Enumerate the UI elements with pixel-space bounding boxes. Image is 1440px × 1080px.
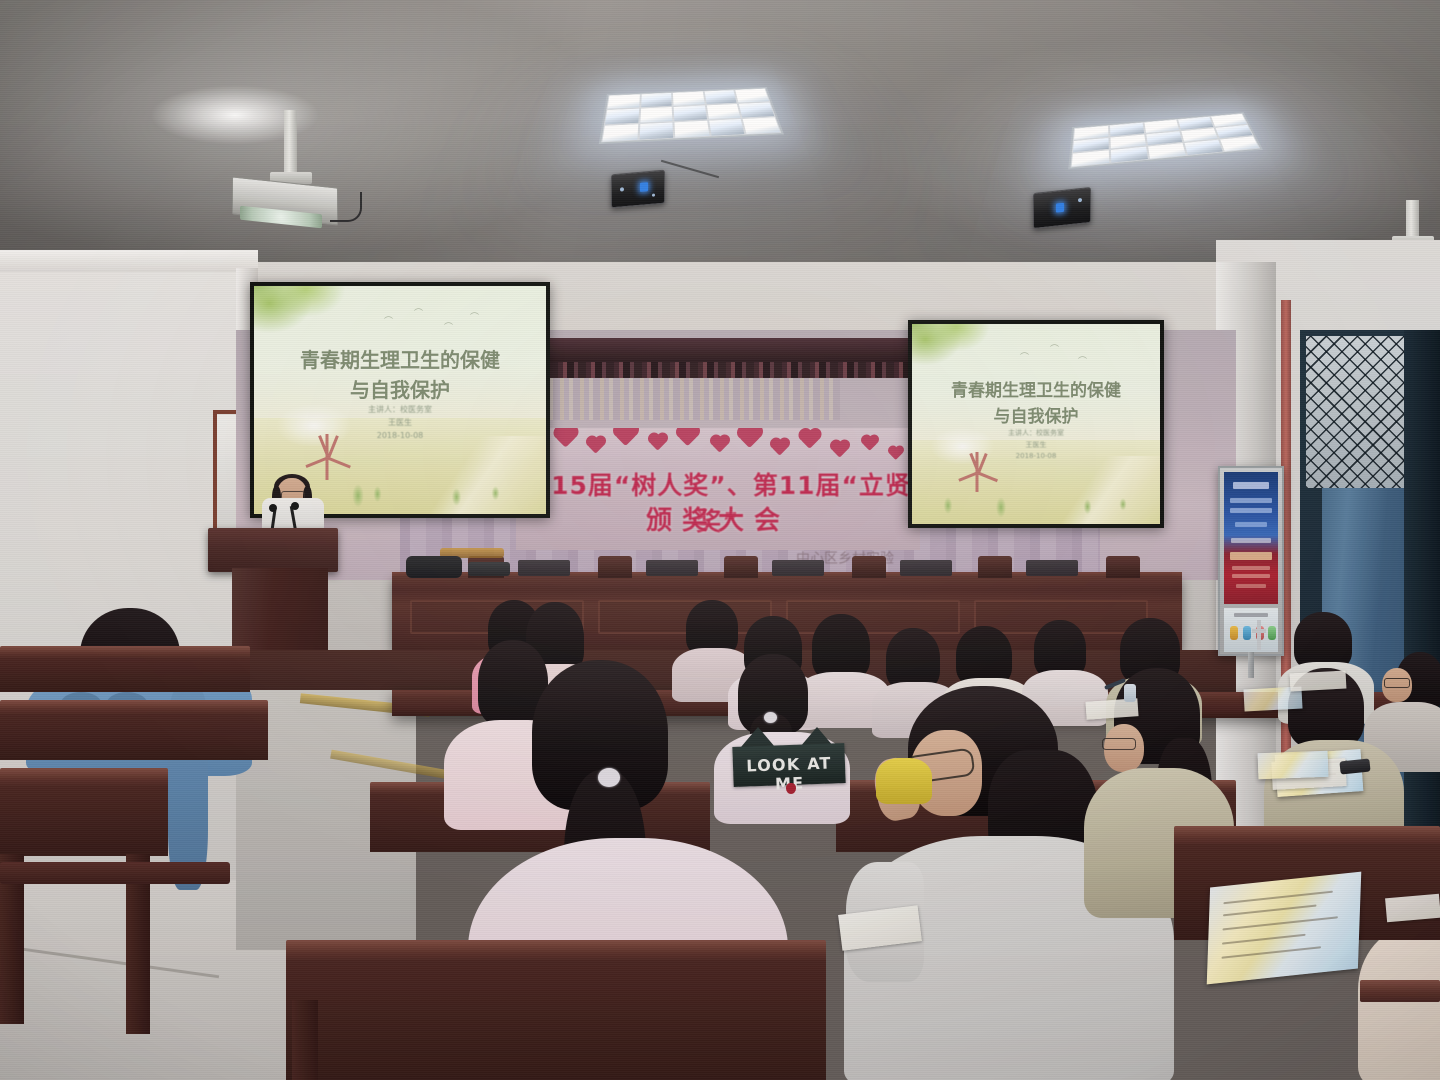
worksheet-paper-far-right[interactable] <box>1385 894 1440 923</box>
pamphlet-text-line <box>1222 934 1306 944</box>
left-wall-crown-moulding <box>0 250 258 272</box>
projector-left <box>232 110 358 220</box>
student-hair <box>956 626 1012 686</box>
standing-poster-face <box>1224 472 1278 604</box>
projector-cable <box>330 192 362 222</box>
desk-front-left-2 <box>0 714 268 760</box>
student-torso <box>1358 926 1440 1080</box>
stage-chair <box>1106 556 1140 578</box>
pamphlet-text-line <box>1223 891 1332 904</box>
stage-chair-seat <box>900 560 952 576</box>
poster-lower-text <box>1234 613 1268 617</box>
tree-icon <box>1082 499 1093 516</box>
tree-icon <box>490 486 501 502</box>
stage-equipment <box>468 562 510 576</box>
stage-chair-seat <box>518 560 570 576</box>
stage-chair-seat <box>646 560 698 576</box>
bird-icon: ︵ <box>384 308 393 321</box>
heart-decor <box>588 437 604 453</box>
pamphlet-text-line <box>1223 904 1317 915</box>
slide-foliage <box>912 324 1031 380</box>
award-ceremony-banner: 第15届“树人奖”、第11届“立贤奖” 颁奖大会 <box>516 428 920 550</box>
slide-subtitle-2: 王医生 <box>254 417 546 428</box>
tree-icon <box>994 497 1008 520</box>
heart-decor <box>739 428 760 448</box>
device-led-small-3 <box>1078 198 1082 202</box>
tree-icon <box>1118 498 1128 512</box>
speaker-device-left <box>611 170 665 209</box>
poster-support-pole <box>1248 652 1254 678</box>
ceiling-light-left <box>599 87 784 144</box>
cross-vertical <box>1257 620 1261 650</box>
stage-chair <box>724 556 758 578</box>
cross-horizontal <box>1252 629 1266 633</box>
slide-subtitle-1: 主讲人：校医务室 <box>254 404 546 415</box>
slide-subtitle-2: 王医生 <box>912 440 1160 450</box>
pamphlet-text-line <box>1222 946 1322 958</box>
student-hair <box>886 628 940 690</box>
poster-figure-icon <box>1268 626 1276 640</box>
desk-top-left-3 <box>0 768 168 788</box>
poster-figure-icon <box>1230 626 1238 640</box>
poster-headline-text <box>1233 482 1269 489</box>
podium-top <box>208 528 338 572</box>
bird-icon: ︵ <box>1050 336 1059 349</box>
banner-title-line2: 颁奖大会 <box>516 500 920 537</box>
desk-top-foreground-right-2 <box>1360 980 1440 1002</box>
slide-title-line2: 与自我保护 <box>254 374 546 403</box>
hair-scrunchie <box>764 712 777 723</box>
heart-decor <box>712 436 728 452</box>
student-glasses <box>1384 678 1410 688</box>
desk-front-left-3 <box>0 786 168 856</box>
stage-desk-panel <box>786 600 960 634</box>
photo-scene: 第15届“树人奖”、第11届“立贤奖” 颁奖大会 中心区乡村实验 ︵ ︵ ︵ ︵ <box>0 0 1440 1080</box>
heart-decor <box>863 436 878 451</box>
tree-icon <box>450 488 463 508</box>
student-yellow-sleeve <box>876 758 932 804</box>
bird-icon: ︵ <box>1020 344 1029 357</box>
right-projection-screen: ︵ ︵ ︵ 青春期生理卫生的保健 与自我保护 主讲人：校医务室 王医生 2018… <box>908 320 1164 528</box>
tree-icon <box>372 486 383 504</box>
desk-front-left-1 <box>0 658 250 692</box>
bird-icon: ︵ <box>414 300 423 313</box>
desk-leg-foreground <box>292 1000 318 1080</box>
stage-desk-panel <box>598 600 772 634</box>
heart-decor <box>650 434 666 450</box>
poster-text-line <box>1230 508 1272 513</box>
worksheet-paper-back[interactable] <box>1290 671 1347 692</box>
stage-chair-seat <box>1026 560 1078 576</box>
health-pamphlet-back[interactable] <box>1258 751 1329 779</box>
bird-icon: ︵ <box>1078 348 1087 361</box>
device-led-small <box>620 187 624 191</box>
tree-icon <box>350 484 366 510</box>
tee-graphic-peak <box>741 727 775 747</box>
desk-front-foreground <box>286 960 826 1080</box>
windmill-icon <box>312 434 342 480</box>
stage-valance-shimmer <box>540 378 840 420</box>
student-hair <box>812 614 870 680</box>
stage-valance-fringe <box>530 362 908 378</box>
stage-chair <box>852 556 886 578</box>
slide-foliage <box>254 286 394 350</box>
stage-chair <box>598 556 632 578</box>
slide-right: ︵ ︵ ︵ 青春期生理卫生的保健 与自我保护 主讲人：校医务室 王医生 2018… <box>912 324 1160 524</box>
poster-text-line <box>1235 522 1267 527</box>
speaker-device-right <box>1033 187 1091 229</box>
slide-subtitle-3: 2018-10-08 <box>254 431 546 440</box>
water-bottle-icon[interactable] <box>1124 684 1136 702</box>
student-glasses <box>1102 738 1136 750</box>
hair-scrunchie <box>598 768 620 787</box>
device-led-blue <box>640 182 648 192</box>
poster-text-line <box>1230 498 1272 503</box>
pamphlet-text-line <box>1222 916 1337 930</box>
poster-text-line <box>1232 574 1270 578</box>
bench-left <box>0 862 230 884</box>
heart-decor <box>772 439 788 455</box>
heart-decor <box>615 428 636 446</box>
device-led-blue-2 <box>1056 203 1064 213</box>
health-pamphlet-right[interactable] <box>1207 872 1362 985</box>
slide-title-line1: 青春期生理卫生的保健 <box>254 344 546 373</box>
tee-graphic-dot <box>786 783 796 794</box>
heart-decor <box>889 447 902 460</box>
stage-bag <box>406 556 462 578</box>
heart-decor <box>832 441 848 457</box>
slide-title-line2: 与自我保护 <box>912 402 1160 427</box>
slide-subtitle-1: 主讲人：校医务室 <box>912 428 1160 438</box>
poster-cross-icon <box>1252 620 1266 650</box>
heart-decor <box>678 428 698 446</box>
projector-mount-pole-2 <box>1406 200 1419 238</box>
poster-text-line <box>1231 538 1271 543</box>
tree-icon <box>942 497 954 516</box>
bird-icon: ︵ <box>470 304 479 317</box>
heart-decor <box>801 430 820 449</box>
stage-chair <box>978 556 1012 578</box>
projector-mount-pole <box>284 110 297 174</box>
poster-red-headline <box>1230 552 1272 560</box>
device-led-small-2 <box>652 194 655 197</box>
poster-text-line <box>1236 584 1266 588</box>
stage-chair-seat <box>772 560 824 576</box>
bird-icon: ︵ <box>444 314 453 327</box>
slide-title-line1: 青春期生理卫生的保健 <box>912 376 1160 401</box>
slide-subtitle-3: 2018-10-08 <box>912 452 1160 460</box>
poster-text-line <box>1232 566 1270 570</box>
microphone-head-1 <box>269 504 277 512</box>
microphone-head-2 <box>291 502 299 510</box>
tee-graphic-patch: LOOK AT ME <box>732 743 845 787</box>
standing-poster-lower-panel <box>1224 608 1278 652</box>
poster-figure-icon <box>1243 626 1251 640</box>
heart-decor <box>556 428 576 448</box>
